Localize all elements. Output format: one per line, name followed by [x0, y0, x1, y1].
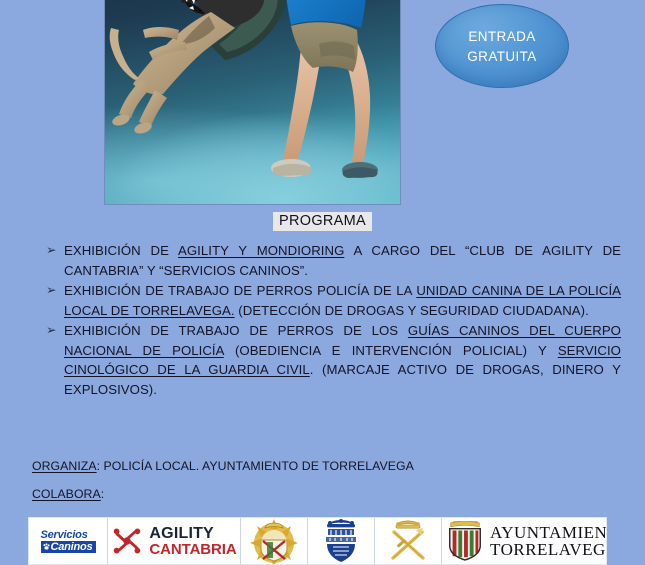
arrow-bullet-icon: ➢: [46, 281, 64, 301]
colabora-line: COLABORA:: [32, 487, 104, 501]
colabora-value: :: [101, 487, 104, 501]
program-heading-row: PROGRAMA: [0, 212, 645, 231]
servicios-caninos-line2: Caninos: [41, 541, 96, 553]
ayuntamiento-wordmark: AYUNTAMIENTO TORRELAVEGA: [490, 524, 607, 559]
list-item: ➢ EXHIBICIÓN DE AGILITY Y MONDIORING A C…: [46, 241, 621, 280]
badge-line-2: GRATUITA: [467, 49, 536, 64]
agility-cantabria-wordmark: AGILITY CANTABRIA: [149, 526, 236, 557]
ayuntamiento-line1: AYUNTAMIENTO: [490, 524, 607, 541]
torrelavega-coat-of-arms-icon: [446, 521, 484, 561]
gold-star-shield-icon: [247, 518, 301, 564]
sponsor-logo-strip: Servicios Caninos AGIL: [28, 517, 607, 565]
bullet-text-3: EXHIBICIÓN DE TRABAJO DE PERROS DE LOS G…: [64, 321, 621, 399]
arrow-bullet-icon: ➢: [46, 321, 64, 341]
policia-nacional-crest-icon: [316, 518, 366, 564]
photo-figures: [105, 0, 400, 204]
ayuntamiento-torrelavega-logo: AYUNTAMIENTO TORRELAVEGA: [442, 518, 607, 564]
guardia-civil-emblem: [375, 518, 441, 564]
agility-word: AGILITY: [149, 526, 236, 542]
arrow-bullet-icon: ➢: [46, 241, 64, 261]
program-bullet-list: ➢ EXHIBICIÓN DE AGILITY Y MONDIORING A C…: [46, 241, 621, 400]
policia-local-torrelavega-emblem: [241, 518, 307, 564]
colabora-label: COLABORA: [32, 487, 101, 501]
paw-icon: [43, 543, 50, 550]
program-heading: PROGRAMA: [273, 212, 372, 231]
agility-dog-mark-icon: [111, 525, 143, 557]
policia-nacional-emblem: [308, 518, 374, 564]
badge-line-1: ENTRADA: [468, 29, 535, 44]
bullet-text-1: EXHIBICIÓN DE AGILITY Y MONDIORING A CAR…: [64, 241, 621, 280]
guardia-civil-sword-crest-icon: [382, 518, 434, 564]
list-item: ➢ EXHIBICIÓN DE TRABAJO DE PERROS POLICÍ…: [46, 281, 621, 320]
entrada-gratuita-badge: ENTRADA GRATUITA: [435, 4, 569, 88]
servicios-caninos-logo: Servicios Caninos: [29, 518, 107, 564]
organiza-line: ORGANIZA: POLICÍA LOCAL. AYUNTAMIENTO DE…: [32, 459, 414, 473]
cantabria-word: CANTABRIA: [149, 542, 236, 557]
servicios-caninos-line1: Servicios: [41, 529, 96, 541]
agility-cantabria-logo: AGILITY CANTABRIA: [108, 518, 240, 564]
organiza-label: ORGANIZA: [32, 459, 97, 473]
list-item: ➢ EXHIBICIÓN DE TRABAJO DE PERROS DE LOS…: [46, 321, 621, 399]
organiza-value: : POLICÍA LOCAL. AYUNTAMIENTO DE TORRELA…: [97, 459, 414, 473]
bullet-text-2: EXHIBICIÓN DE TRABAJO DE PERROS POLICÍA …: [64, 281, 621, 320]
ayuntamiento-line2: TORRELAVEGA: [490, 541, 607, 558]
mondioring-bite-work-photo: [105, 0, 400, 204]
